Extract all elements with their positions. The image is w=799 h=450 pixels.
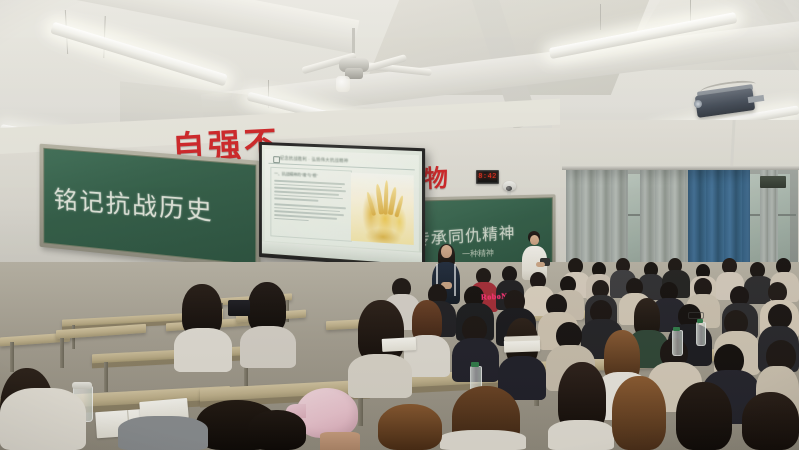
bottle-cap [697, 319, 703, 323]
assistant-head [530, 235, 539, 245]
screen-surface: 纪念抗战胜利 · 弘扬伟大抗战精神 一、抗战精神的“魂”与“根” [262, 145, 422, 266]
glasses-icon [688, 312, 704, 319]
cup-lid [72, 382, 92, 389]
presenter-stripe [454, 264, 456, 296]
assistant-hands [536, 262, 545, 267]
cap-person-neck [320, 432, 360, 450]
bottle-cap [471, 362, 479, 367]
grey-curtain[interactable] [640, 170, 688, 276]
slide-title: 纪念抗战胜利 · 弘扬伟大抗战精神 [280, 155, 349, 164]
audience-hair [676, 382, 732, 450]
water-bottle[interactable] [696, 322, 706, 346]
audience-hair [742, 392, 799, 450]
camera-lens-icon [506, 186, 512, 191]
bench-leg [104, 362, 108, 392]
monument-statue-image [351, 173, 414, 245]
audience-head [768, 282, 787, 302]
slide-image [351, 173, 414, 245]
chalk-subtext-right: 一种精神 [462, 247, 494, 259]
audience-body [440, 430, 526, 450]
audience-body [548, 420, 614, 450]
chair-back [228, 300, 250, 316]
chalk-text-right: 传承同仇精神 [413, 219, 516, 250]
fan-light [336, 76, 350, 92]
audience-body [118, 416, 208, 450]
wall-fixture [760, 176, 786, 188]
lamp-wire [600, 4, 601, 30]
clock-digits: 8:42 [478, 172, 497, 182]
audience-hair [612, 376, 666, 450]
projector-lens-icon [694, 100, 702, 108]
slide-text-column: 一、抗战精神的“魂”与“根” [270, 167, 352, 242]
curtain-rod [562, 166, 799, 170]
blackboard-surface: 铭记抗战历史 [43, 148, 256, 266]
audience-body [240, 326, 296, 368]
audience-body [348, 354, 412, 398]
classroom-photo: 8:42 自强不 载物 铭记抗战历史 传承同仇精神 一种精神 纪念抗战胜利 · … [0, 0, 799, 450]
presentation-slide: 纪念抗战胜利 · 弘扬伟大抗战精神 一、抗战精神的“魂”与“根” [265, 149, 419, 252]
audience-hair [248, 410, 306, 450]
audience-body [0, 388, 86, 450]
audience-hair [248, 282, 286, 332]
slide-subheading: 一、抗战精神的“魂”与“根” [274, 171, 348, 181]
chalk-text-left: 铭记抗战历史 [53, 180, 214, 228]
audience-hair [358, 300, 404, 362]
led-clock-display: 8:42 [476, 170, 499, 184]
audience-body [174, 328, 232, 372]
desk-leg [10, 342, 14, 372]
slide-logo-icon [273, 156, 280, 163]
bottle-cap [673, 327, 680, 331]
audience-hair [378, 404, 442, 450]
water-bottle[interactable] [672, 330, 683, 356]
projection-screen: 纪念抗战胜利 · 弘扬伟大抗战精神 一、抗战精神的“魂”与“根” [259, 142, 425, 269]
presenter-head [441, 245, 452, 258]
paper-sheet [382, 337, 417, 352]
desk-leg [60, 338, 64, 368]
